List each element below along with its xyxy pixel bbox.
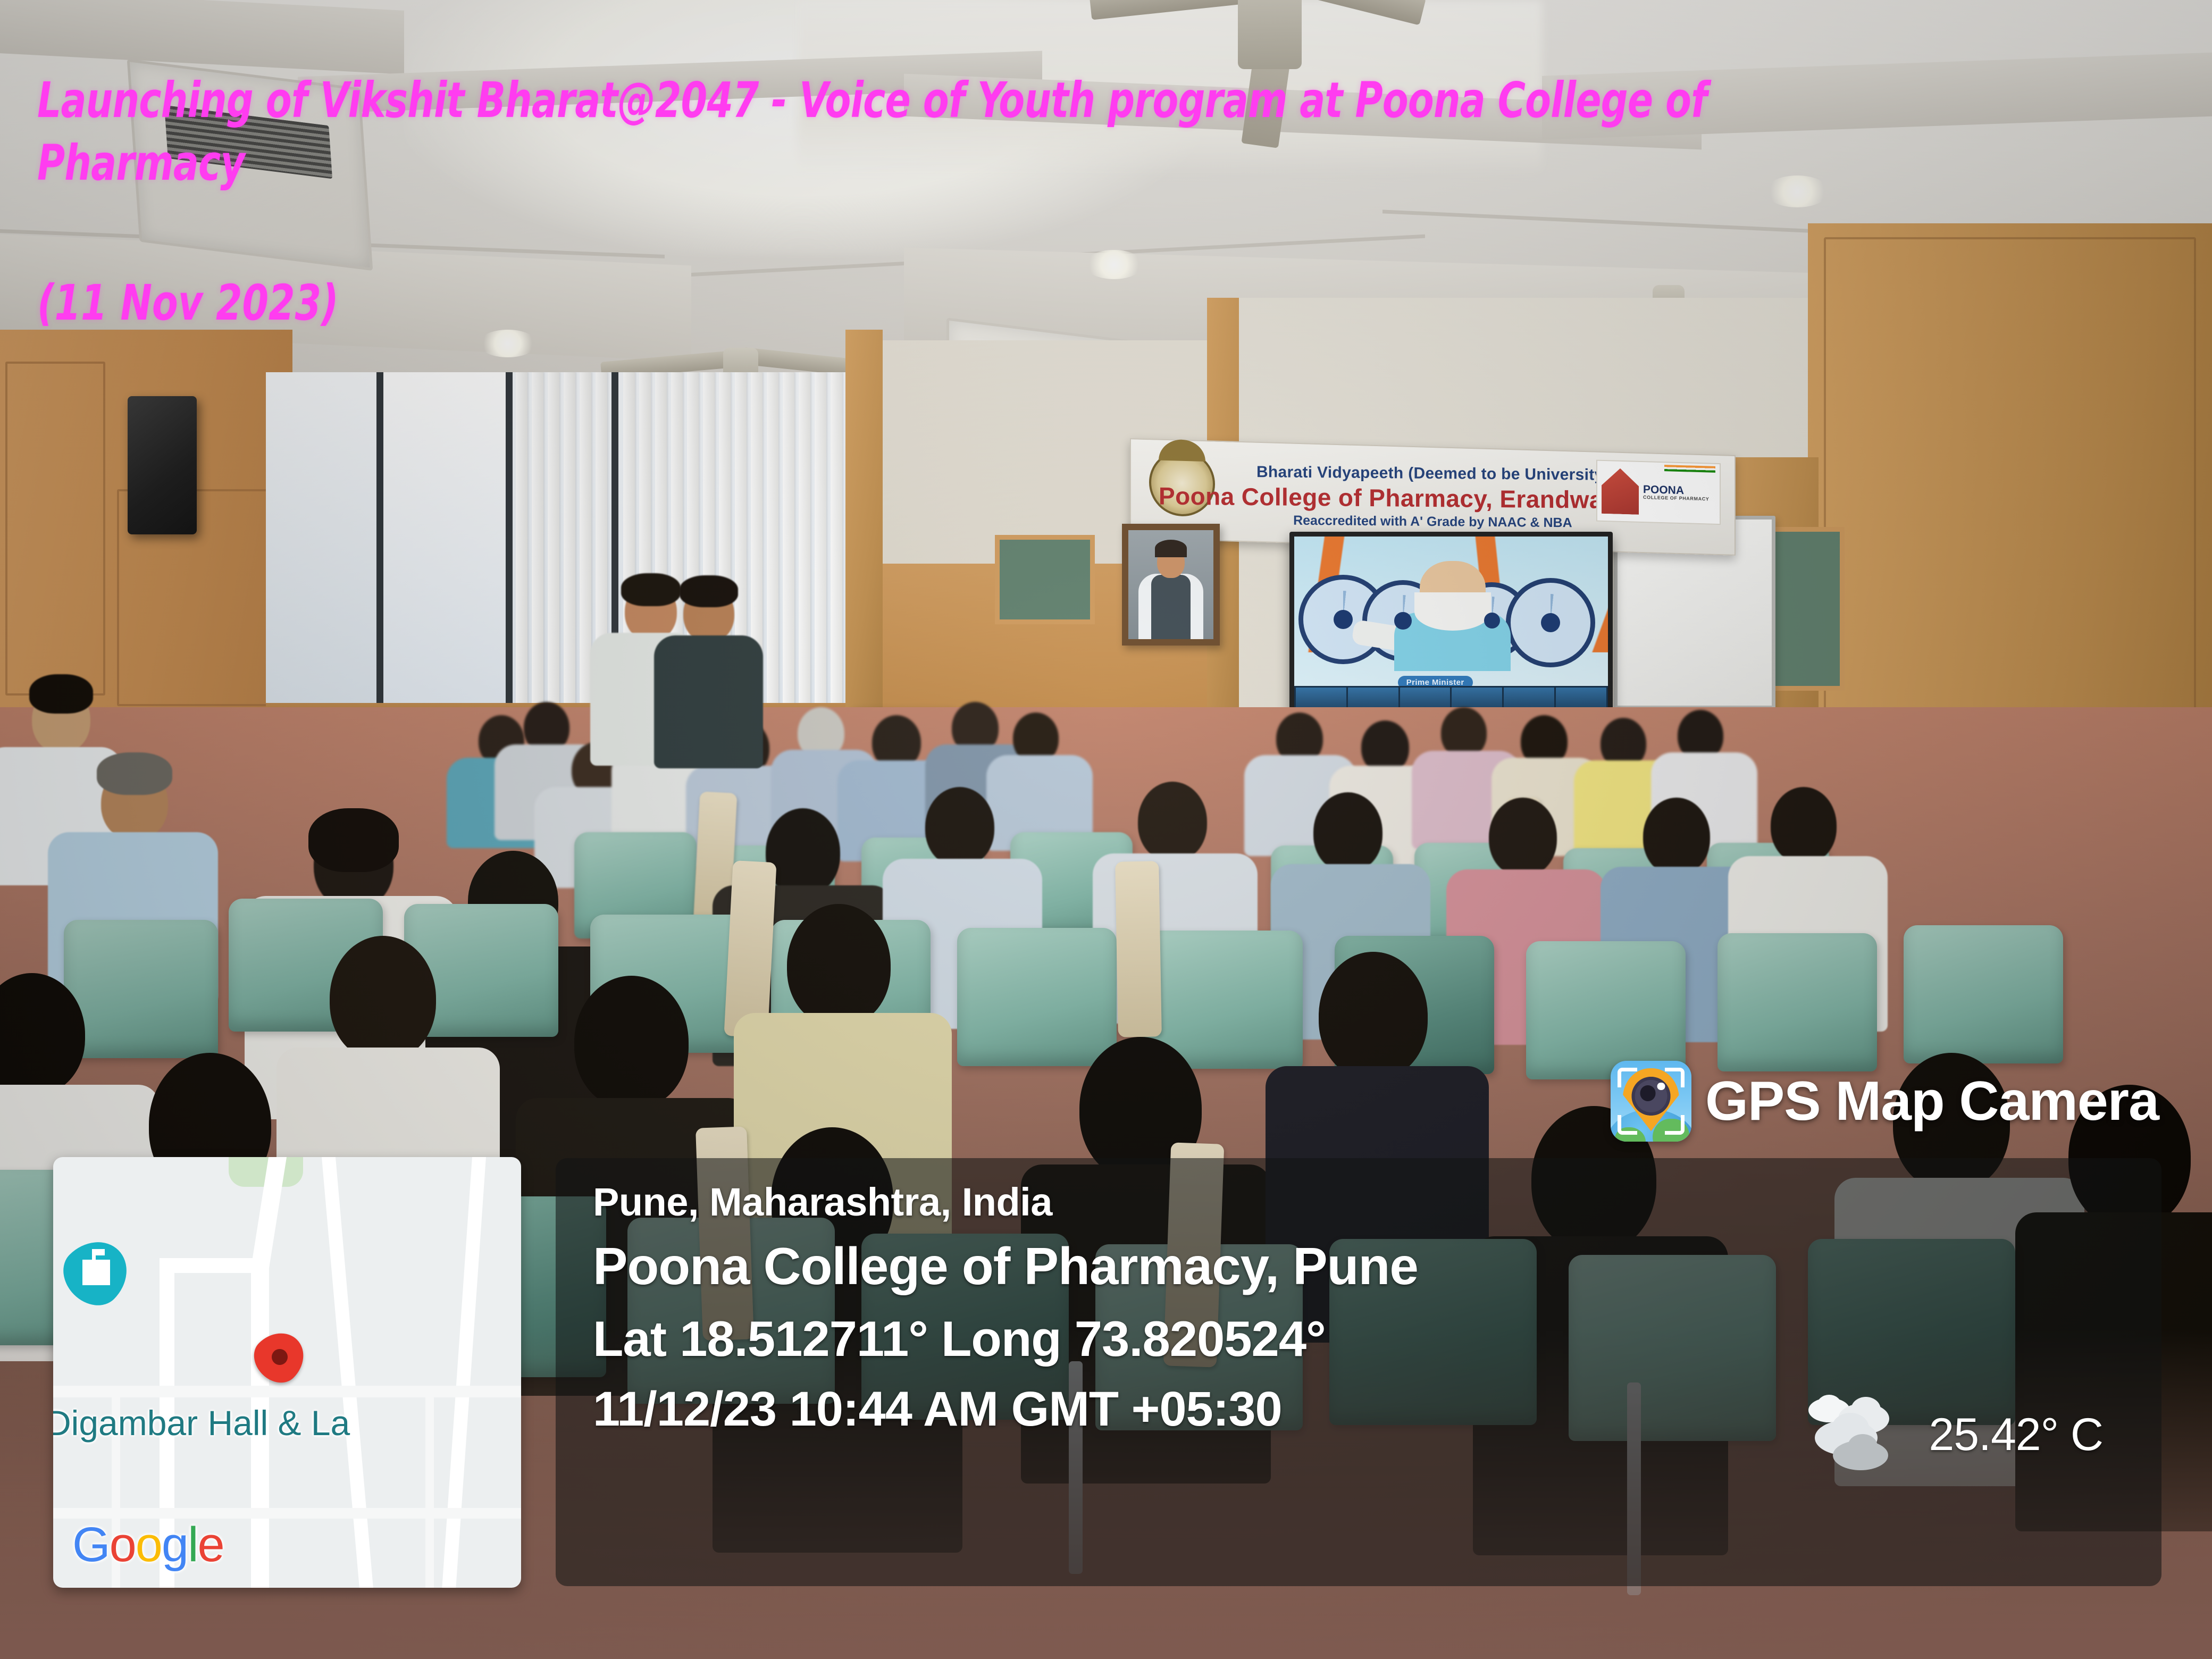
cloud-icon bbox=[1808, 1395, 1915, 1474]
wood-column-left bbox=[845, 330, 883, 755]
gps-place: Poona College of Pharmacy, Pune bbox=[593, 1236, 1418, 1296]
gps-coordinates: Lat 18.512711° Long 73.820524° bbox=[593, 1310, 1418, 1368]
logo-sub: COLLEGE OF PHARMACY bbox=[1643, 495, 1709, 501]
map-road-7 bbox=[53, 1386, 521, 1397]
gps-info-panel: Pune, Maharashtra, India Poona College o… bbox=[556, 1158, 2161, 1586]
google-logo-l: l bbox=[188, 1518, 197, 1572]
gps-text-block: Pune, Maharashtra, India Poona College o… bbox=[593, 1179, 1418, 1437]
weather-block: 25.42° C bbox=[1808, 1395, 2103, 1474]
gps-brand-row: GPS Map Camera bbox=[1611, 1061, 2159, 1142]
temperature-value: 25.42° C bbox=[1929, 1409, 2103, 1461]
college-logo: POONA COLLEGE OF PHARMACY bbox=[1596, 460, 1721, 525]
gps-timestamp: 11/12/23 10:44 AM GMT +05:30 bbox=[593, 1381, 1418, 1437]
map-road-6 bbox=[441, 1157, 487, 1588]
flag-stripe-icon bbox=[1664, 465, 1715, 473]
map-road-10 bbox=[425, 1386, 434, 1588]
title-main-text: Launching of Vikshit Bharat@2047 - Voice… bbox=[37, 69, 1821, 195]
map-thumbnail[interactable]: Digambar Hall & La Google bbox=[53, 1157, 521, 1588]
google-logo-o2: o bbox=[136, 1518, 162, 1572]
teal-landmark-pin bbox=[53, 1228, 140, 1317]
gps-app-name: GPS Map Camera bbox=[1705, 1070, 2159, 1133]
framed-portrait bbox=[1122, 524, 1220, 646]
google-logo-g2: g bbox=[162, 1518, 188, 1572]
green-notice-board-2 bbox=[1000, 540, 1090, 619]
title-overlay: Launching of Vikshit Bharat@2047 - Voice… bbox=[37, 69, 2111, 331]
map-place-label: Digambar Hall & La bbox=[53, 1403, 350, 1443]
downlight-4 bbox=[479, 330, 537, 357]
google-logo-e: e bbox=[198, 1518, 224, 1572]
title-date-text: (11 Nov 2023) bbox=[37, 274, 1821, 331]
screenshot-root: Bharati Vidyapeeth (Deemed to be Univers… bbox=[0, 0, 2212, 1659]
gps-region: Pune, Maharashtra, India bbox=[593, 1179, 1418, 1225]
wall-speaker bbox=[128, 396, 197, 534]
logo-text: POONA COLLEGE OF PHARMACY bbox=[1643, 484, 1709, 501]
google-logo-o1: o bbox=[110, 1518, 136, 1572]
google-logo-g1: G bbox=[72, 1518, 110, 1572]
television-display: Prime Minister bbox=[1289, 532, 1613, 717]
map-road-3 bbox=[160, 1258, 266, 1273]
ashoka-chakra-icon-4 bbox=[1506, 578, 1595, 667]
logo-building-icon bbox=[1602, 468, 1639, 515]
google-logo: Google bbox=[72, 1517, 224, 1573]
prime-minister-figure bbox=[1407, 554, 1498, 666]
window-wall bbox=[266, 372, 867, 744]
gps-map-camera-icon bbox=[1611, 1061, 1691, 1142]
map-road-5 bbox=[320, 1157, 374, 1588]
